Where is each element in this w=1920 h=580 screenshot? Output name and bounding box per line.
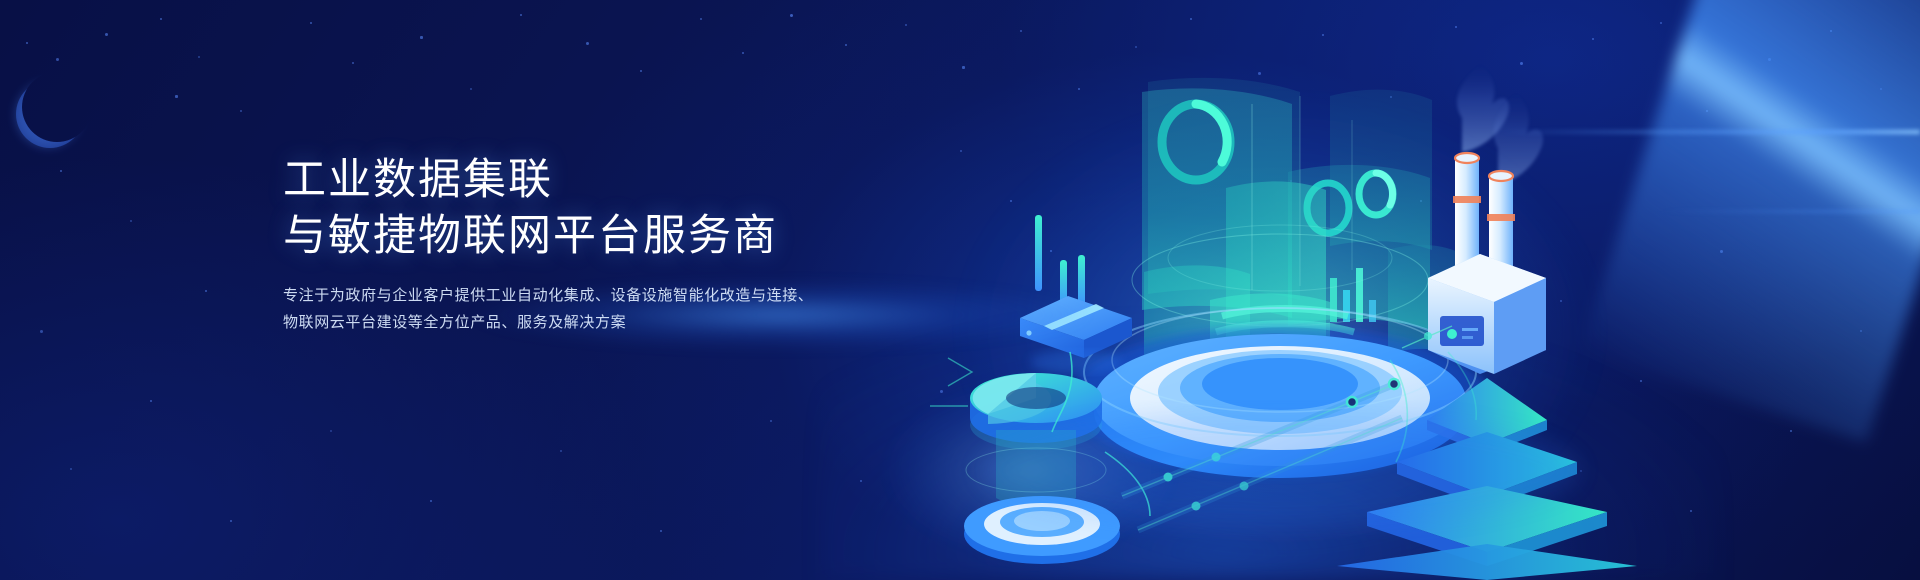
subtitle-line-1: 专注于为政府与企业客户提供工业自动化集成、设备设施智能化改造与连接、 (283, 282, 843, 309)
hero-banner: 工业数据集联 与敏捷物联网平台服务商 专注于为政府与企业客户提供工业自动化集成、… (0, 0, 1920, 580)
light-beam-horizontal-lower (1660, 210, 1920, 213)
crescent-moon-icon (22, 72, 92, 142)
ground-haze-glow (820, 320, 1720, 580)
donut-chart-panel (1162, 104, 1230, 180)
subtitle-line-2: 物联网云平台建设等全方位产品、服务及解决方案 (283, 309, 843, 336)
donut-chart-small-right (1359, 173, 1393, 215)
headline-line-2: 与敏捷物联网平台服务商 (283, 208, 843, 264)
hero-copy-block: 工业数据集联 与敏捷物联网平台服务商 专注于为政府与企业客户提供工业自动化集成、… (283, 152, 843, 336)
light-beam-horizontal-upper (1500, 130, 1920, 134)
bar-chart-panel (1330, 268, 1376, 322)
donut-chart-small-left (1307, 183, 1349, 233)
headline-line-1: 工业数据集联 (283, 152, 843, 208)
